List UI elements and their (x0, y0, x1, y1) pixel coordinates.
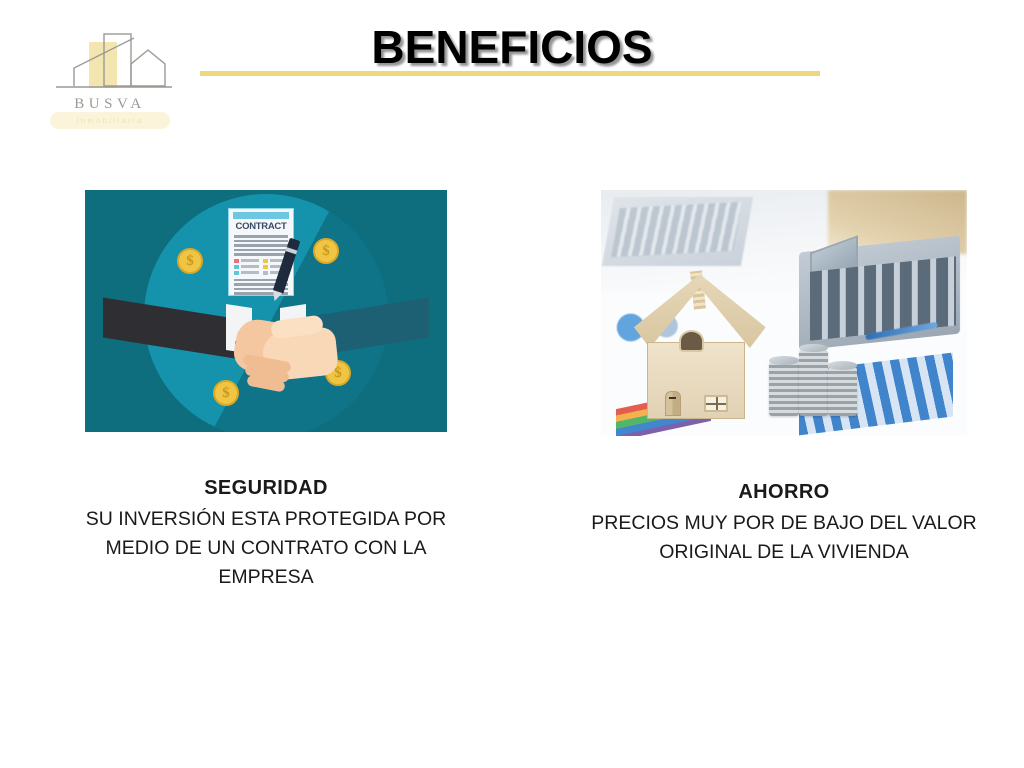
benefit-caption-ahorro: AHORRO PRECIOS MUY POR DE BAJO DEL VALOR… (572, 478, 996, 567)
coin-stack (828, 367, 857, 416)
house-body (647, 342, 744, 419)
house-attic-window (679, 330, 704, 352)
coin-stack (769, 362, 798, 416)
logo-wordmark: BUSVA (34, 96, 186, 113)
benefit-caption-seguridad: SEGURIDAD SU INVERSIÓN ESTA PROTEGIDA PO… (56, 474, 476, 592)
benefit-title: AHORRO (572, 478, 996, 507)
benefit-column-ahorro: AHORRO PRECIOS MUY POR DE BAJO DEL VALOR… (572, 190, 996, 567)
document-title: CONTRACT (229, 221, 293, 232)
dollar-coin-icon: $ (313, 238, 339, 264)
coin-stack (799, 350, 828, 416)
document-header-bar (233, 212, 289, 219)
dollar-coin-icon: $ (177, 248, 203, 274)
benefit-body: PRECIOS MUY POR DE BAJO DEL VALOR ORIGIN… (572, 509, 996, 567)
benefit-title: SEGURIDAD (56, 474, 476, 503)
dollar-coin-icon: $ (213, 380, 239, 406)
title-underline-rule (200, 71, 820, 76)
wooden-model-house (634, 271, 766, 419)
house-door (665, 391, 680, 416)
benefit-column-seguridad: $ $ $ $ CONTRACT (56, 190, 476, 592)
logo-tagline: Inmobiliaria (34, 116, 186, 125)
page-title: BENEFICIOS (0, 20, 1024, 74)
house-window (704, 395, 728, 412)
handshake-contract-illustration: $ $ $ $ CONTRACT (85, 190, 447, 432)
coin-top (769, 356, 798, 364)
benefit-body: SU INVERSIÓN ESTA PROTEGIDA POR MEDIO DE… (56, 505, 476, 592)
coin-top (828, 361, 857, 369)
document-text-lines (234, 235, 288, 256)
laptop-keyboard (611, 202, 742, 258)
model-house-coins-calculator-photo (601, 190, 967, 436)
slide-canvas: BUSVA Inmobiliaria BENEFICIOS $ $ $ $ CO… (0, 0, 1024, 768)
